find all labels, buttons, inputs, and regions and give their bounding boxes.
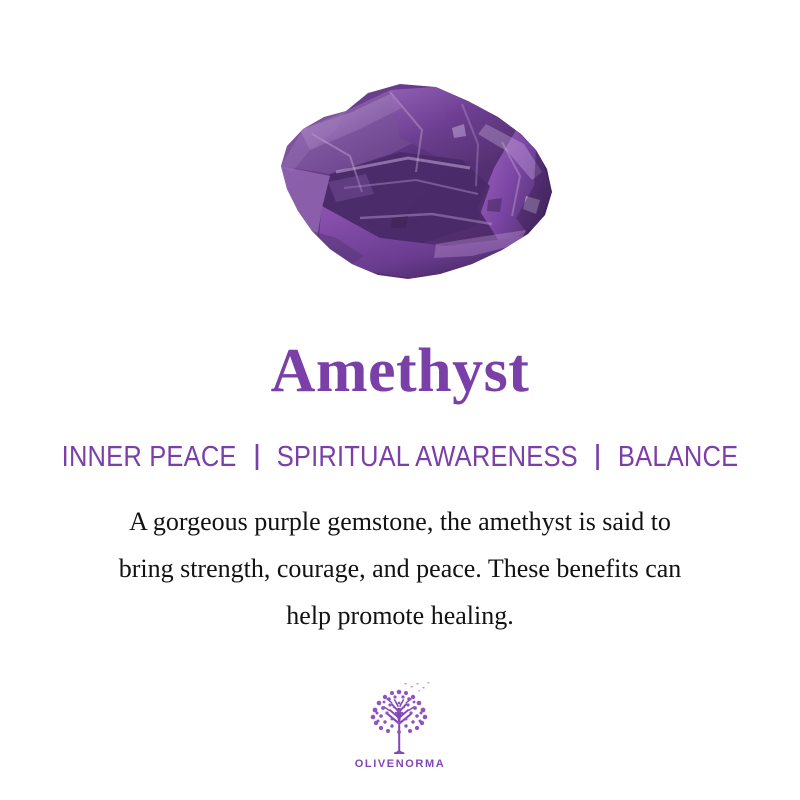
amethyst-raw-crystal <box>240 68 570 300</box>
birds-icon <box>404 682 430 691</box>
keyword-separator-icon <box>597 444 600 470</box>
description-line: A gorgeous purple gemstone, the amethyst… <box>60 498 740 545</box>
page-title: Amethyst <box>0 336 800 406</box>
keyword-balance: BALANCE <box>618 441 738 473</box>
description-line: bring strength, courage, and peace. Thes… <box>60 545 740 592</box>
amethyst-product-card: Amethyst INNER PEACE SPIRITUAL AWARENESS… <box>0 0 800 800</box>
brand-name: OLIVENORMA <box>0 758 800 770</box>
gemstone-image-area <box>0 0 800 320</box>
keyword-list: INNER PEACE SPIRITUAL AWARENESS BALANCE <box>48 440 752 474</box>
brand-logo: OLIVENORMA <box>0 678 800 770</box>
description-line: help promote healing. <box>60 592 740 639</box>
description-text: A gorgeous purple gemstone, the amethyst… <box>60 498 740 639</box>
olivenorma-tree-logo-icon <box>354 678 446 756</box>
keyword-spiritual-awareness: SPIRITUAL AWARENESS <box>277 441 578 473</box>
keyword-separator-icon <box>255 444 258 470</box>
keyword-inner-peace: INNER PEACE <box>62 441 237 473</box>
